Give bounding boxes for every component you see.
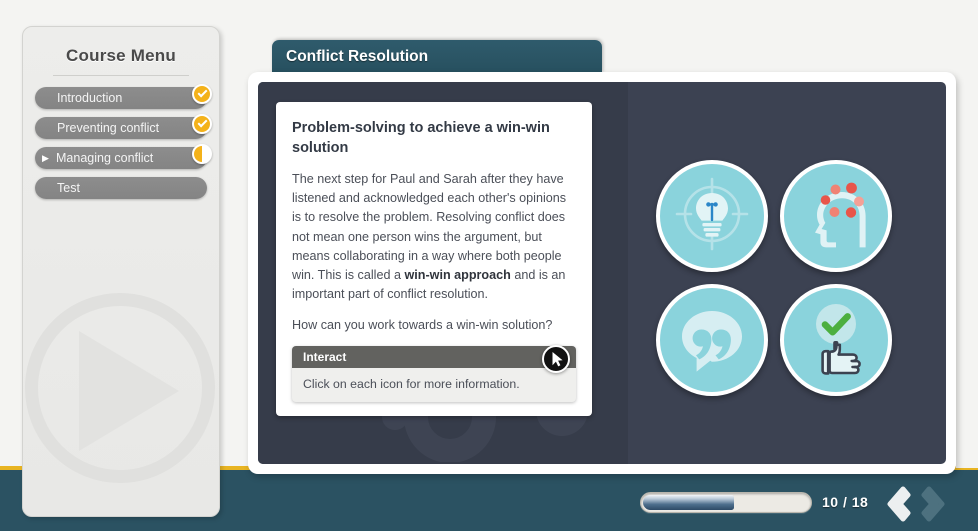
interact-label: Interact: [292, 350, 346, 364]
chevron-right-icon: [920, 484, 954, 524]
status-badge-complete: [192, 114, 212, 134]
page-title: Conflict Resolution: [272, 48, 428, 66]
interact-header: Interact: [292, 346, 576, 368]
course-menu-panel: Course Menu Introduction Preventing conf…: [22, 26, 220, 517]
page-counter: 10 / 18: [822, 494, 868, 510]
sidebar-item-managing-conflict[interactable]: ▶ Managing conflict: [35, 147, 207, 169]
slide-body: The next step for Paul and Sarah after t…: [292, 170, 576, 304]
icon-button-speech-quote[interactable]: [656, 284, 768, 396]
current-item-arrow-icon: ▶: [42, 154, 56, 163]
speech-quote-icon: [671, 299, 753, 381]
sidebar-item-preventing-conflict[interactable]: Preventing conflict: [35, 117, 207, 139]
icon-button-lightbulb-target[interactable]: [656, 160, 768, 272]
play-button-watermark-icon: [22, 279, 220, 497]
slide-canvas: Problem-solving to achieve a win-win sol…: [258, 82, 946, 464]
thumbs-up-check-icon: [795, 299, 877, 381]
slide-text-card: Problem-solving to achieve a win-win sol…: [276, 102, 592, 416]
slide-body-emphasis: win-win approach: [404, 268, 510, 282]
icon-button-thumbs-up-check[interactable]: [780, 284, 892, 396]
interactive-icon-grid: [656, 160, 928, 432]
chevron-left-icon: [878, 484, 912, 524]
icon-button-head-ideas[interactable]: [780, 160, 892, 272]
sidebar-item-label: Preventing conflict: [56, 121, 207, 135]
progress-bar[interactable]: [640, 492, 812, 513]
interact-instruction: Click on each icon for more information.: [292, 368, 576, 402]
head-ideas-icon: [796, 176, 876, 256]
status-badge-in-progress: [192, 144, 212, 164]
status-badge-complete: [192, 84, 212, 104]
slide-body-part1: The next step for Paul and Sarah after t…: [292, 172, 566, 282]
interact-box: Interact Click on each icon for more inf…: [292, 346, 576, 402]
sidebar-item-label: Test: [56, 181, 207, 195]
sidebar-item-test[interactable]: Test: [35, 177, 207, 199]
cursor-pointer-icon: [542, 345, 570, 373]
slide-frame: Problem-solving to achieve a win-win sol…: [248, 72, 956, 474]
previous-button[interactable]: [878, 484, 912, 524]
slide-title-tab: Conflict Resolution: [272, 40, 602, 73]
slide-heading: Problem-solving to achieve a win-win sol…: [292, 119, 576, 158]
course-player: Course Menu Introduction Preventing conf…: [0, 0, 978, 531]
sidebar-item-introduction[interactable]: Introduction: [35, 87, 207, 109]
progress-bar-fill: [643, 495, 734, 510]
right-gutter: [956, 0, 978, 468]
menu-divider: [53, 75, 189, 76]
sidebar-item-label: Managing conflict: [56, 151, 207, 165]
course-menu-title: Course Menu: [23, 27, 219, 66]
next-button[interactable]: [920, 484, 954, 524]
sidebar-item-label: Introduction: [56, 91, 207, 105]
course-menu-list: Introduction Preventing conflict ▶ Manag…: [23, 87, 219, 199]
lightbulb-target-icon: [669, 173, 755, 259]
slide-question: How can you work towards a win-win solut…: [292, 316, 576, 335]
